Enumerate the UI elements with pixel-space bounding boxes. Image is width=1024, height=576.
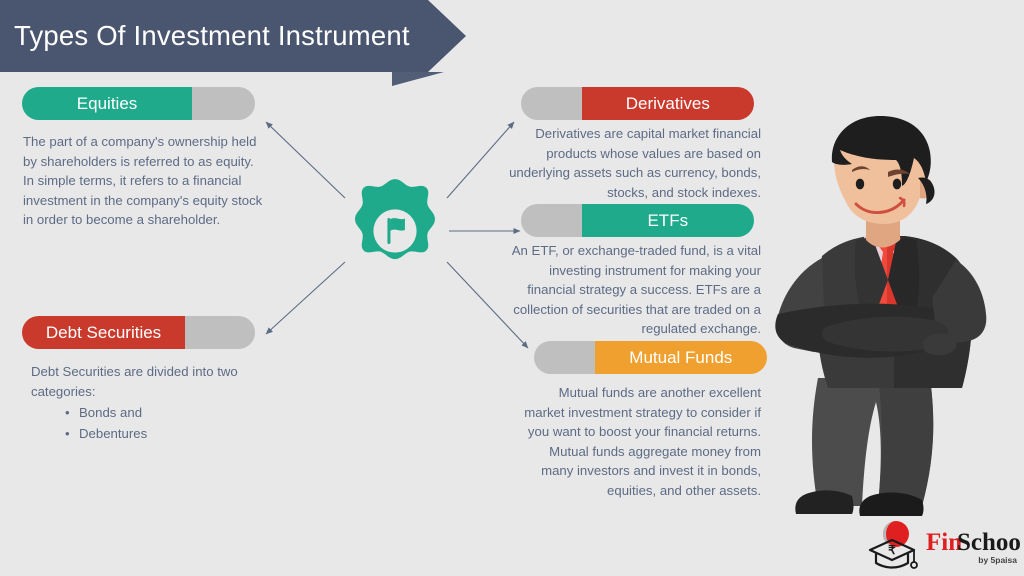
eye-right	[893, 179, 901, 190]
pill-equities-color-segment: Equities	[22, 87, 192, 120]
text-debt-securities-intro: Debt Securities are divided into two cat…	[31, 362, 263, 401]
pill-derivatives-label: Derivatives	[626, 95, 710, 112]
pill-derivatives-gray-segment	[521, 87, 582, 120]
logo-tagline: by 5paisa	[978, 555, 1017, 565]
page-title: Types Of Investment Instrument	[14, 0, 410, 72]
pill-equities-gray-segment	[192, 87, 255, 120]
gear-flag-icon	[341, 177, 449, 285]
connector-to-debt-securities	[266, 262, 345, 334]
pill-derivatives-color-segment: Derivatives	[582, 87, 754, 120]
rupee-symbol: ₹	[888, 543, 896, 557]
eye-left	[856, 179, 864, 190]
graduation-cap-icon: ₹	[870, 540, 917, 568]
debt-securities-bullet-list: Bonds and Debentures	[31, 402, 263, 444]
finschool-logo[interactable]: ₹ Fin School by 5paisa	[862, 518, 1020, 574]
gear-inner-circle	[373, 209, 416, 252]
logo-name-part2: School	[957, 529, 1020, 556]
text-mutual-funds: Mutual funds are another excellent marke…	[522, 383, 761, 500]
text-derivatives: Derivatives are capital market financial…	[509, 124, 761, 202]
pill-etfs[interactable]: ETFs	[521, 204, 754, 237]
pill-etfs-color-segment: ETFs	[582, 204, 754, 237]
text-equities: The part of a company's ownership held b…	[23, 132, 266, 230]
pill-equities[interactable]: Equities	[22, 87, 255, 120]
text-debt-securities: Debt Securities are divided into two cat…	[31, 362, 263, 444]
gear-shape	[341, 177, 449, 285]
pill-etfs-label: ETFs	[647, 212, 688, 229]
pill-mutual-funds-color-segment: Mutual Funds	[595, 341, 767, 374]
pill-mutual-funds-label: Mutual Funds	[629, 349, 732, 366]
connector-to-derivatives	[447, 122, 514, 198]
pill-debt-securities-gray-segment	[185, 316, 255, 349]
pill-debt-securities-label: Debt Securities	[46, 324, 161, 341]
pill-mutual-funds-gray-segment	[534, 341, 595, 374]
pill-etfs-gray-segment	[521, 204, 582, 237]
banner-fold-tab	[392, 72, 444, 86]
list-item: Debentures	[79, 423, 263, 444]
infographic-canvas: Types Of Investment Instrument	[0, 0, 1024, 576]
title-banner: Types Of Investment Instrument	[0, 0, 470, 72]
businessman-illustration	[760, 108, 1024, 533]
pill-equities-label: Equities	[77, 95, 137, 112]
businessman-shape	[760, 108, 1024, 533]
pill-mutual-funds[interactable]: Mutual Funds	[534, 341, 767, 374]
pill-derivatives[interactable]: Derivatives	[521, 87, 754, 120]
list-item: Bonds and	[79, 402, 263, 423]
pill-debt-securities-color-segment: Debt Securities	[22, 316, 185, 349]
logo-shape: ₹ Fin School by 5paisa	[862, 518, 1020, 574]
pill-debt-securities[interactable]: Debt Securities	[22, 316, 255, 349]
text-etfs: An ETF, or exchange-traded fund, is a vi…	[509, 241, 761, 339]
connector-to-equities	[266, 122, 345, 198]
